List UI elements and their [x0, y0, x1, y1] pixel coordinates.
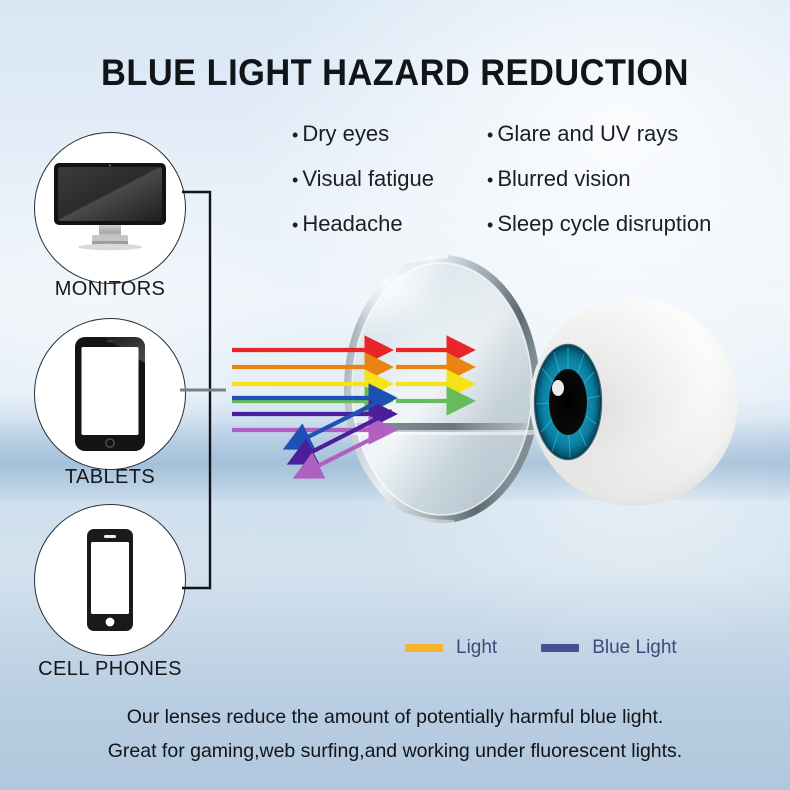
- cell-phone-icon: [35, 505, 185, 655]
- page-title: BLUE LIGHT HAZARD REDUCTION: [28, 52, 763, 94]
- bullet-icon: •: [292, 125, 298, 145]
- bullet-icon: •: [487, 170, 493, 190]
- list-item: •Blurred vision: [487, 157, 711, 202]
- legend-label-light: Light: [456, 637, 497, 659]
- footer-line-2: Great for gaming,web surfing,and working…: [0, 734, 790, 768]
- infographic-canvas: BLUE LIGHT HAZARD REDUCTION •Dry eyes •V…: [0, 0, 790, 790]
- list-item-label: Dry eyes: [302, 121, 389, 146]
- eyeball: [528, 296, 740, 508]
- list-item-label: Headache: [302, 211, 402, 236]
- iris: [535, 345, 601, 459]
- list-item: •Headache: [292, 202, 434, 247]
- bullet-icon: •: [292, 170, 298, 190]
- bullet-icon: •: [487, 125, 493, 145]
- legend-label-blue-light: Blue Light: [592, 637, 677, 659]
- list-item-label: Glare and UV rays: [497, 121, 678, 146]
- eye-highlight: [552, 380, 564, 396]
- tablet-icon: [35, 319, 185, 469]
- bullet-icon: •: [487, 215, 493, 235]
- blue-light-swatch: [541, 644, 579, 652]
- list-item: •Visual fatigue: [292, 157, 434, 202]
- light-swatch: [405, 644, 443, 652]
- list-item: •Glare and UV rays: [487, 112, 711, 157]
- monitor-icon: [35, 133, 185, 283]
- device-circle-cell-phones: [34, 504, 186, 656]
- footer-copy: Our lenses reduce the amount of potentia…: [0, 700, 790, 768]
- list-item: •Dry eyes: [292, 112, 434, 157]
- pupil: [549, 369, 587, 435]
- list-item-label: Blurred vision: [497, 166, 630, 191]
- eyeglass-lens: [336, 250, 548, 528]
- list-item-label: Sleep cycle disruption: [497, 211, 711, 236]
- connector-bracket: [180, 190, 226, 590]
- device-circle-monitors: [34, 132, 186, 284]
- legend: Light Blue Light: [405, 637, 677, 659]
- symptom-list-left: •Dry eyes •Visual fatigue •Headache: [292, 112, 434, 247]
- footer-line-1: Our lenses reduce the amount of potentia…: [0, 700, 790, 734]
- device-label-cell-phones: CELL PHONES: [0, 658, 220, 681]
- list-item: •Sleep cycle disruption: [487, 202, 711, 247]
- bullet-icon: •: [292, 215, 298, 235]
- list-item-label: Visual fatigue: [302, 166, 434, 191]
- symptom-list-right: •Glare and UV rays •Blurred vision •Slee…: [487, 112, 711, 247]
- device-circle-tablets: [34, 318, 186, 470]
